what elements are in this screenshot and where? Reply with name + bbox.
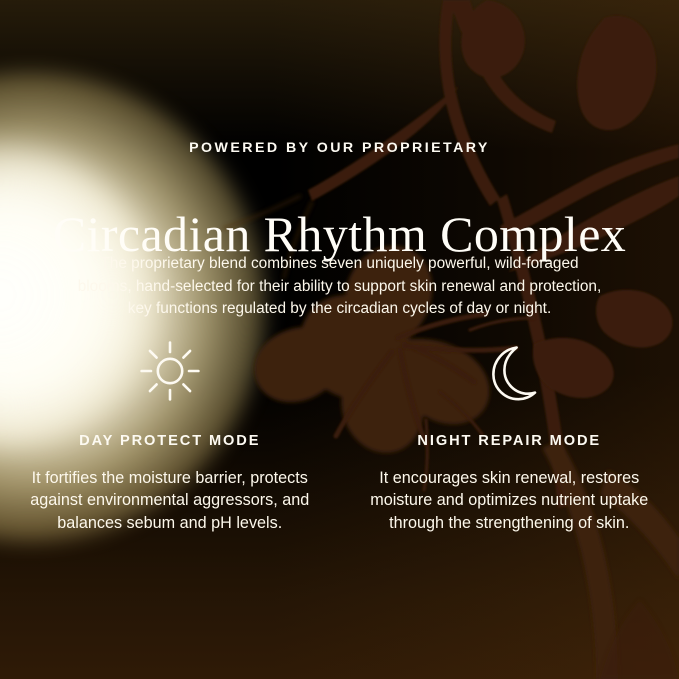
modes-row: DAY PROTECT MODE It fortifies the moistu… xyxy=(0,340,679,535)
eyebrow-text: POWERED BY OUR PROPRIETARY xyxy=(0,141,679,155)
mode-title-night: NIGHT REPAIR MODE xyxy=(417,434,601,449)
sun-icon xyxy=(139,340,201,402)
promotional-banner: POWERED BY OUR PROPRIETARY Circadian Rhy… xyxy=(0,0,679,679)
mode-column-day: DAY PROTECT MODE It fortifies the moistu… xyxy=(0,340,340,535)
mode-title-day: DAY PROTECT MODE xyxy=(79,434,260,449)
moon-icon xyxy=(478,340,540,402)
mode-column-night: NIGHT REPAIR MODE It encourages skin ren… xyxy=(340,340,679,535)
mode-body-night: It encourages skin renewal, restores moi… xyxy=(368,467,650,535)
intro-paragraph: The proprietary blend combines seven uni… xyxy=(78,253,602,320)
mode-body-day: It fortifies the moisture barrier, prote… xyxy=(29,467,311,535)
